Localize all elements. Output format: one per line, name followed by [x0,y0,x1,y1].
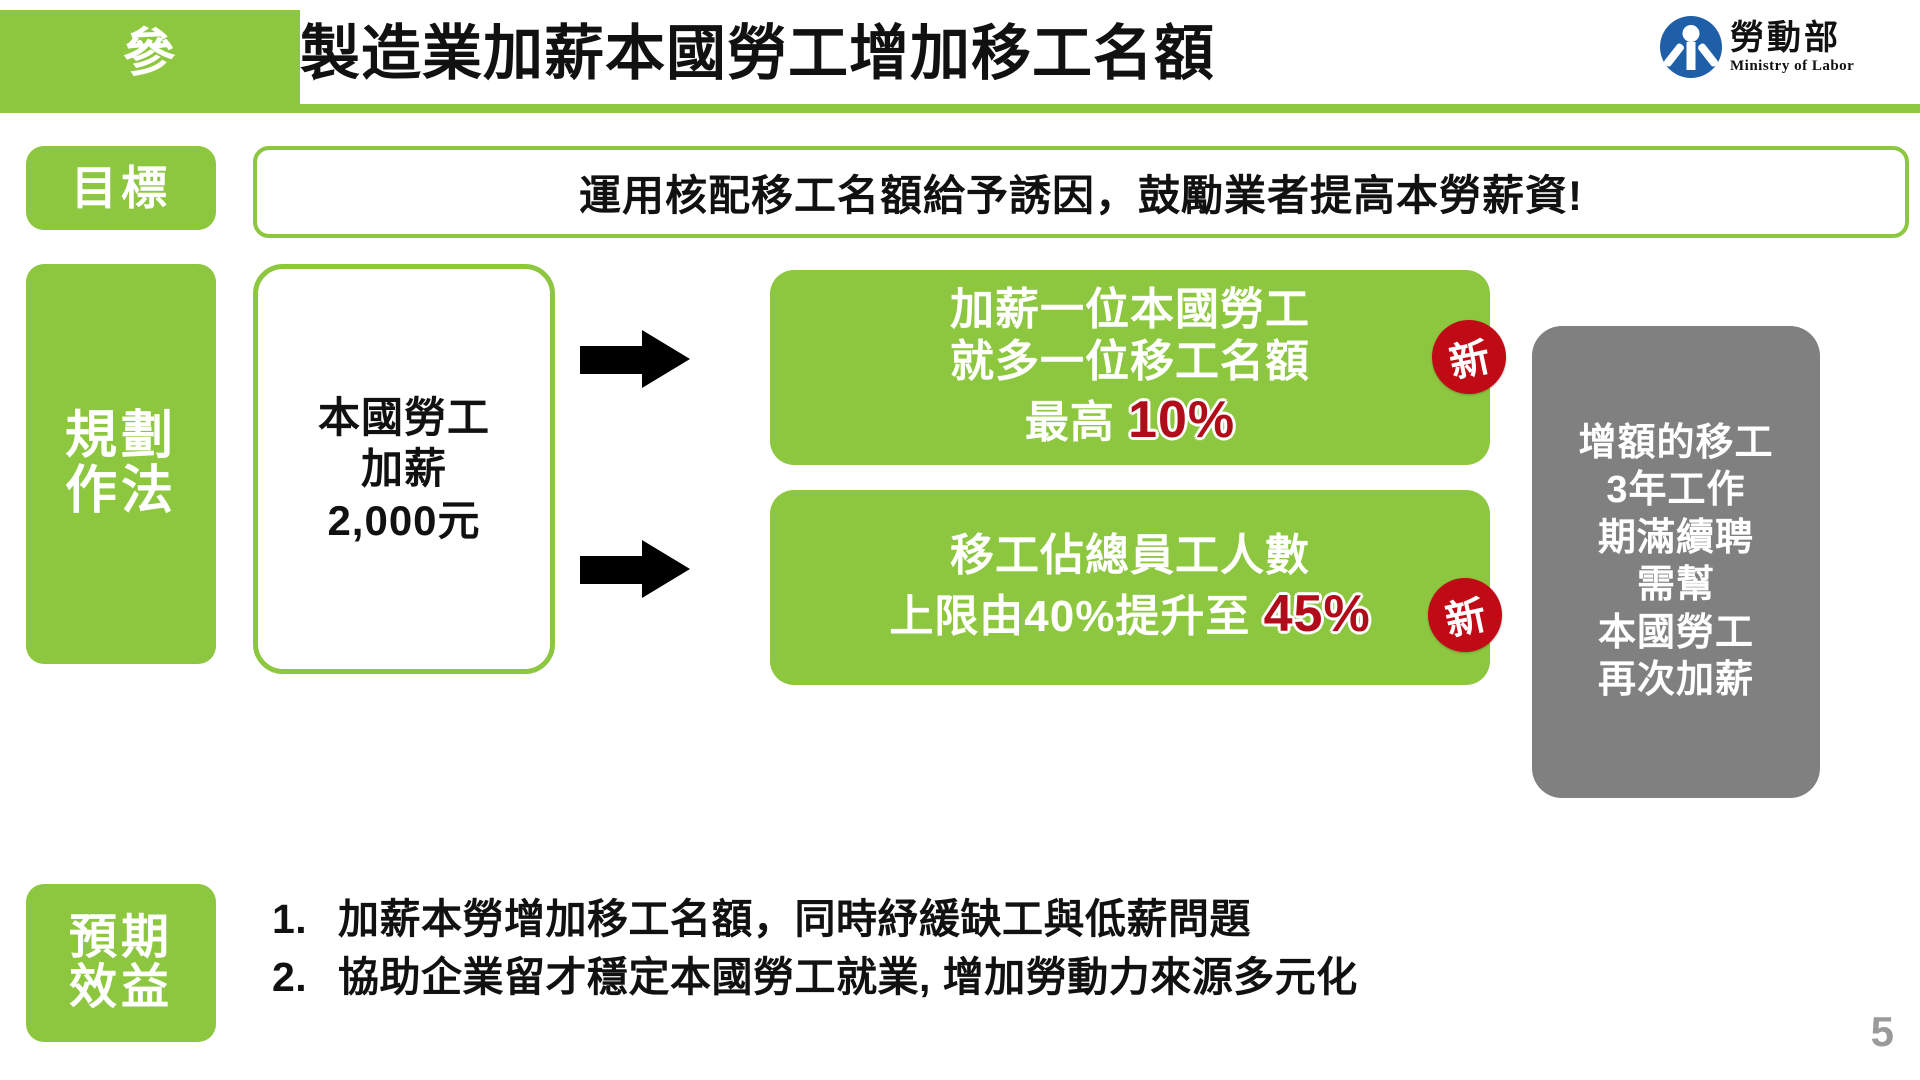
note-card-line1: 增額的移工 [1578,420,1773,468]
note-card-line4: 需幫 [1637,562,1715,610]
ministry-logo: 勞動部 Ministry of Labor [1660,4,1910,90]
logo-name-zh: 勞動部 [1730,21,1854,55]
plan-box-2-line2: 上限由40%提升至 45% [889,583,1370,645]
plan-box-1-line3: 最高 10% [1025,389,1235,451]
note-card-line3: 期滿續聘 [1598,515,1754,563]
note-card-line2: 3年工作 [1606,467,1745,515]
plan-box-1-highlight: 10% [1128,391,1235,449]
plan-label-line1: 規劃 [65,409,177,464]
goal-text: 運用核配移工名額給予誘因，鼓勵業者提高本勞薪資! [579,162,1583,223]
header-rule-left [0,98,300,113]
benefit-item-text: 協助企業留才穩定本國勞工就業, 增加勞動力來源多元化 [338,948,1358,1006]
benefit-item-text: 加薪本勞增加移工名額，同時紓緩缺工與低薪問題 [338,890,1251,948]
plan-label-line2: 作法 [65,464,177,519]
goal-banner: 運用核配移工名額給予誘因，鼓勵業者提高本勞薪資! [253,146,1909,238]
benefit-item-number: 2. [272,948,338,1006]
right-arrow-icon [580,540,690,598]
plan-box-2-line1: 移工佔總員工人數 [950,530,1310,583]
note-card: 增額的移工 3年工作 期滿續聘 需幫 本國勞工 再次加薪 [1532,326,1820,798]
list-item: 1. 加薪本勞增加移工名額，同時紓緩缺工與低薪問題 [272,890,1832,948]
right-arrow-icon [580,330,690,388]
page-title: 製造業加薪本國勞工增加移工名額 [300,6,1215,102]
ministry-of-labor-emblem-icon [1660,16,1722,78]
list-item: 2. 協助企業留才穩定本國勞工就業, 增加勞動力來源多元化 [272,948,1832,1006]
plan-box-2-line2-prefix: 上限由40%提升至 [889,592,1263,641]
note-card-line5: 本國勞工 [1598,610,1754,658]
page-number: 5 [1871,1008,1894,1056]
plan-box-1: 加薪一位本國勞工 就多一位移工名額 最高 10% [770,270,1490,465]
plan-box-1-line2: 就多一位移工名額 [950,336,1310,389]
source-card-line2: 加薪 [361,443,447,494]
benefit-list: 1. 加薪本勞增加移工名額，同時紓緩缺工與低薪問題 2. 協助企業留才穩定本國勞… [272,890,1832,1006]
benefit-label-line1: 預期 [69,913,173,963]
note-card-line6: 再次加薪 [1598,657,1754,705]
logo-name-en: Ministry of Labor [1730,59,1854,74]
benefit-label-line2: 效益 [69,963,173,1013]
plan-box-1-line3-prefix: 最高 [1025,398,1128,447]
benefit-item-number: 1. [272,890,338,948]
plan-label: 規劃 作法 [26,264,216,664]
section-number: 參 [0,10,300,98]
plan-box-2-highlight: 45% [1264,585,1371,643]
benefit-label: 預期 效益 [26,884,216,1042]
source-card-line3: 2,000元 [327,495,480,546]
goal-label: 目標 [26,146,216,230]
header-rule [300,104,1920,113]
plan-box-2: 移工佔總員工人數 上限由40%提升至 45% [770,490,1490,685]
section-number-chip: 參 [0,10,300,98]
logo-text: 勞動部 Ministry of Labor [1730,21,1854,74]
slide-root: 參 製造業加薪本國勞工增加移工名額 勞動部 Ministry of Labor … [0,0,1920,1080]
source-card-line1: 本國勞工 [318,392,490,443]
source-card: 本國勞工 加薪 2,000元 [253,264,555,674]
plan-box-1-line1: 加薪一位本國勞工 [950,284,1310,337]
